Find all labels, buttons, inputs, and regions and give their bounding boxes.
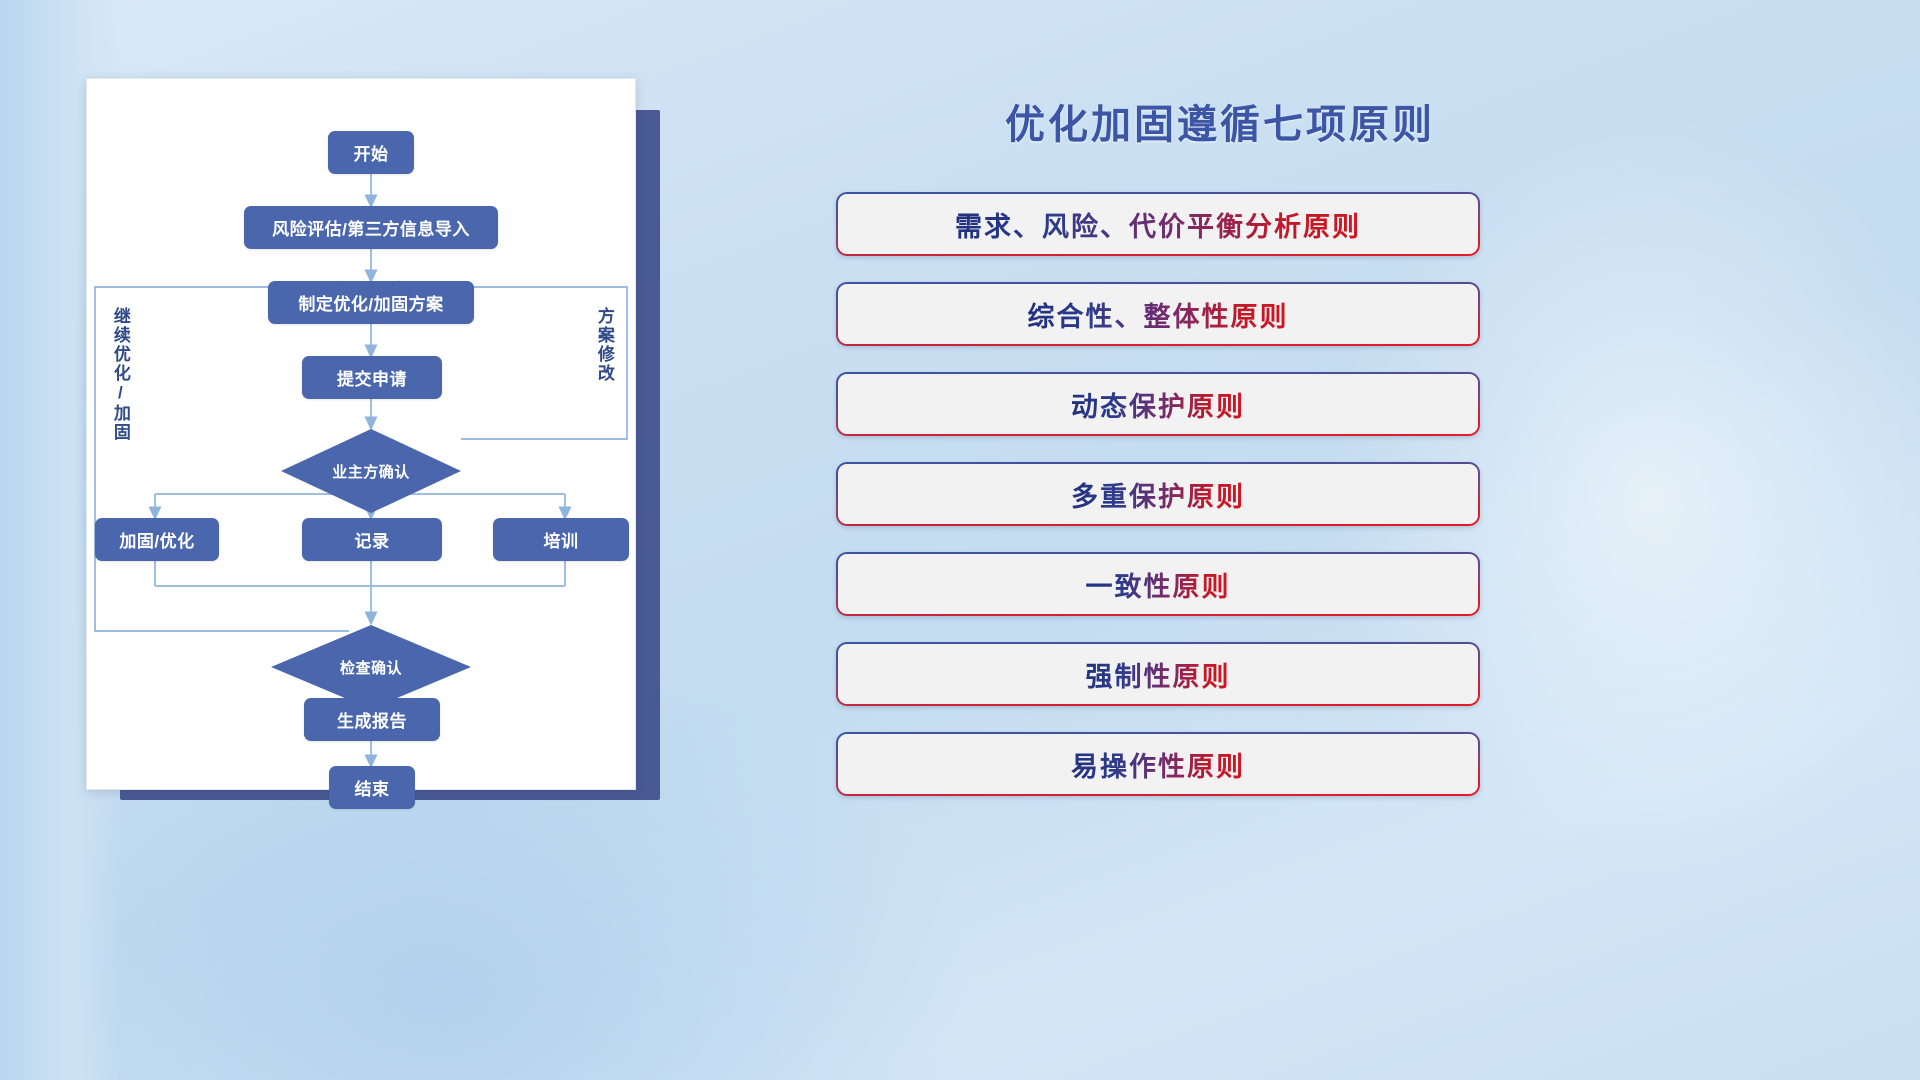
flow-node-check-confirm[interactable]: 检查确认 <box>271 625 471 709</box>
flowchart-canvas: 开始 风险评估/第三方信息导入 制定优化/加固方案 提交申请 业主方确认 加固/… <box>86 78 636 790</box>
principle-card-inner: 动态保护原则 <box>838 374 1478 434</box>
flow-node-reinforce-optimize[interactable]: 加固/优化 <box>95 518 219 561</box>
flow-node-label: 业主方确认 <box>332 461 410 482</box>
principles-list: 需求、风险、代价平衡分析原则 综合性、整体性原则 动态保护原则 多重保护原则 一… <box>836 192 1480 822</box>
flow-node-label: 记录 <box>355 527 390 552</box>
principle-card[interactable]: 综合性、整体性原则 <box>836 282 1480 346</box>
flow-edge-label-plan-revision: 方案修改 <box>595 307 613 417</box>
principle-card[interactable]: 易操作性原则 <box>836 732 1480 796</box>
principle-label: 一致性原则 <box>1086 565 1231 604</box>
flow-node-make-plan[interactable]: 制定优化/加固方案 <box>268 281 474 324</box>
flow-node-label: 生成报告 <box>337 707 407 732</box>
flow-node-risk-assessment[interactable]: 风险评估/第三方信息导入 <box>244 206 498 249</box>
principle-card-inner: 需求、风险、代价平衡分析原则 <box>838 194 1478 254</box>
principle-label: 动态保护原则 <box>1071 385 1245 424</box>
flow-node-record[interactable]: 记录 <box>302 518 442 561</box>
flow-node-label: 检查确认 <box>340 657 402 678</box>
principle-card[interactable]: 动态保护原则 <box>836 372 1480 436</box>
flow-node-label: 风险评估/第三方信息导入 <box>272 215 470 240</box>
principle-label: 易操作性原则 <box>1071 745 1245 784</box>
principle-card[interactable]: 多重保护原则 <box>836 462 1480 526</box>
flow-node-owner-confirm[interactable]: 业主方确认 <box>281 429 461 513</box>
flow-node-label: 结束 <box>355 775 390 800</box>
flow-node-label: 培训 <box>544 527 579 552</box>
principle-card-inner: 综合性、整体性原则 <box>838 284 1478 344</box>
flow-node-end[interactable]: 结束 <box>329 766 415 809</box>
principle-card[interactable]: 一致性原则 <box>836 552 1480 616</box>
flow-node-submit-application[interactable]: 提交申请 <box>302 356 442 399</box>
principle-card[interactable]: 强制性原则 <box>836 642 1480 706</box>
flow-node-label: 开始 <box>354 140 389 165</box>
principle-card-inner: 强制性原则 <box>838 644 1478 704</box>
principle-card-inner: 易操作性原则 <box>838 734 1478 794</box>
flow-node-label: 制定优化/加固方案 <box>298 290 443 315</box>
principle-label: 多重保护原则 <box>1071 475 1245 514</box>
principle-label: 综合性、整体性原则 <box>1028 295 1289 334</box>
flow-edge-label-continue-optimize: 继续优化/加固 <box>111 307 129 457</box>
principle-label: 强制性原则 <box>1086 655 1231 694</box>
flow-node-generate-report[interactable]: 生成报告 <box>304 698 440 741</box>
flow-node-start[interactable]: 开始 <box>328 131 414 174</box>
flow-node-label: 提交申请 <box>337 365 407 390</box>
page-title: 优化加固遵循七项原则 <box>940 92 1500 150</box>
principle-card-inner: 一致性原则 <box>838 554 1478 614</box>
principle-label: 需求、风险、代价平衡分析原则 <box>955 205 1361 244</box>
flow-node-training[interactable]: 培训 <box>493 518 629 561</box>
principle-card[interactable]: 需求、风险、代价平衡分析原则 <box>836 192 1480 256</box>
flow-node-label: 加固/优化 <box>119 527 194 552</box>
principle-card-inner: 多重保护原则 <box>838 464 1478 524</box>
